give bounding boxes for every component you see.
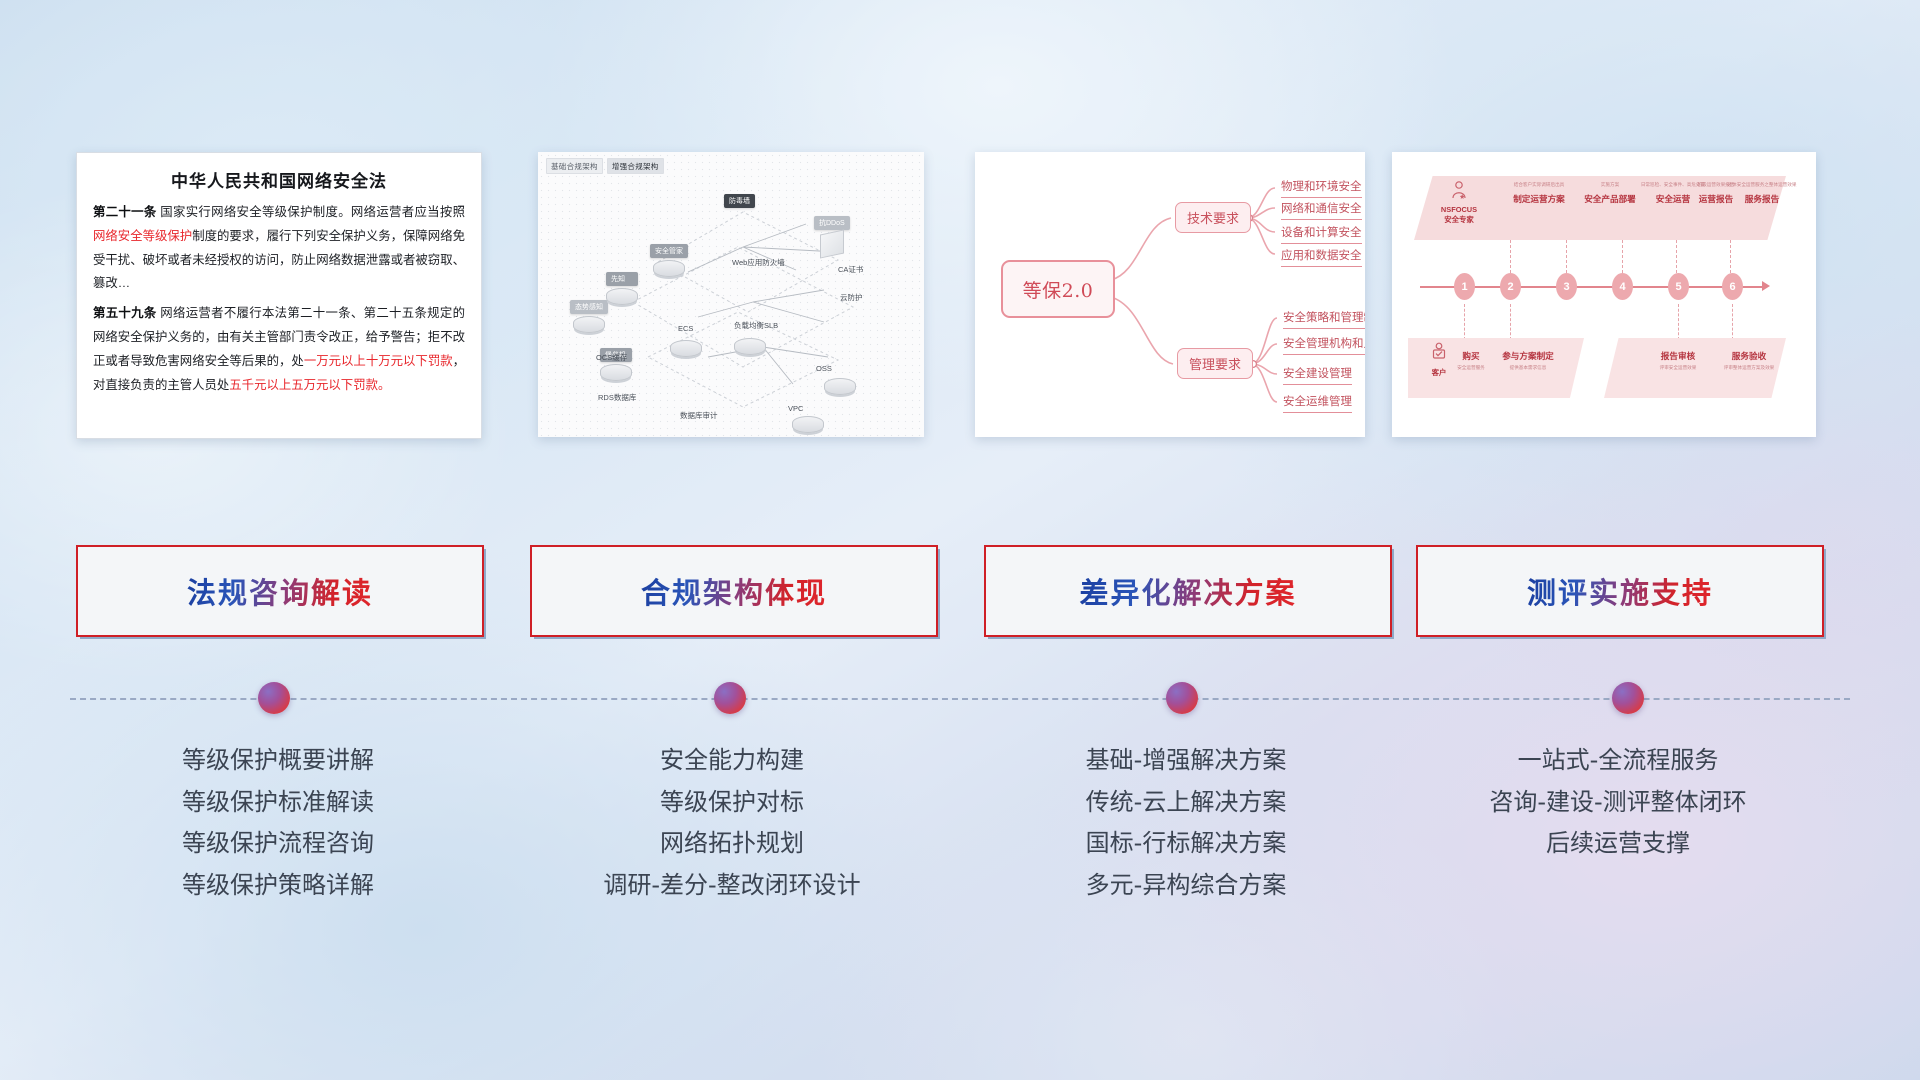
node-label: 先知: [606, 272, 638, 286]
node-slb-label: 负载均衡SLB: [734, 320, 778, 331]
node-disc-icon: [653, 260, 685, 277]
list-item: 等级保护策略详解: [76, 865, 480, 907]
law-article-21: 第二十一条 国家实行网络安全等级保护制度。网络运营者应当按照网络安全等级保护制度…: [93, 201, 465, 296]
node-antivirus-wall: 防毒墙: [724, 194, 755, 208]
roadmap-bottom-step-2: 参与方案制定 提供基本需求信息: [1490, 350, 1566, 371]
roadmap-marker-2: 2: [1500, 273, 1521, 300]
roadmap-marker-4: 4: [1612, 273, 1633, 300]
tab-basic-compliance[interactable]: 基础合规架构: [546, 158, 603, 174]
step-main: 报告审核: [1640, 350, 1716, 362]
list-item: 安全能力构建: [530, 740, 934, 782]
node-situational-awareness: 态势感知: [570, 300, 608, 333]
node-cloud-shield-label: 云防护: [840, 292, 863, 303]
roadmap-tick: [1732, 304, 1733, 340]
node-label: 安全管家: [650, 244, 688, 258]
pillar-title-4: 测评实施支持: [1527, 570, 1713, 612]
step-sub: 评审整体运营方案及效果: [1710, 365, 1788, 371]
pillar-items-1: 等级保护概要讲解 等级保护标准解读 等级保护流程咨询 等级保护策略详解: [76, 740, 480, 906]
timeline-node-4[interactable]: [1612, 682, 1644, 714]
expert-star-icon: [1449, 180, 1469, 200]
node-disc-icon: [600, 364, 632, 381]
article-21-text-a: 国家实行网络安全等级保护制度。网络运营者应当按照: [157, 205, 465, 219]
mindmap-leaf-org-personnel: 安全管理机构和人员: [1283, 335, 1365, 355]
pillar-title-box-3[interactable]: 差异化解决方案: [984, 545, 1392, 637]
node-oss-shape: [824, 376, 856, 395]
roadmap-arrow-icon: [1762, 281, 1770, 291]
timeline-node-3[interactable]: [1166, 682, 1198, 714]
node-disc-icon: [824, 378, 856, 395]
card-roadmap: NSFOCUS 安全专家 结合客户实际调研后出具 制定运营方案 实施方案 安全产…: [1392, 152, 1816, 437]
card-law-document: 中华人民共和国网络安全法 第二十一条 国家实行网络安全等级保护制度。网络运营者应…: [76, 152, 482, 439]
pillar-items-3: 基础-增强解决方案 传统-云上解决方案 国标-行标解决方案 多元-异构综合方案: [984, 740, 1388, 906]
mindmap-leaf-app-data: 应用和数据安全: [1281, 247, 1362, 267]
roadmap-top-step-5: 总体安全运营服务之整体运营效果 服务报告: [1704, 182, 1816, 205]
pillar-title-box-1[interactable]: 法规咨询解读: [76, 545, 484, 637]
list-item: 调研-差分-整改闭环设计: [530, 865, 934, 907]
customer-check-icon: [1430, 342, 1448, 360]
mindmap-leaf-ops-mgmt: 安全运维管理: [1283, 393, 1352, 413]
article-21-label: 第二十一条: [93, 205, 157, 219]
pillar-title-2: 合规架构体现: [641, 570, 827, 612]
node-disc-icon: [792, 416, 824, 433]
step-sub: 评审安全运营效果: [1640, 365, 1716, 371]
step-sub: 总体安全运营服务之整体运营效果: [1704, 182, 1816, 188]
list-item: 多元-异构综合方案: [984, 865, 1388, 907]
expert-brand: NSFOCUS: [1428, 205, 1490, 215]
list-item: 等级保护概要讲解: [76, 740, 480, 782]
node-waf-label: Web应用防火墙: [732, 257, 785, 268]
roadmap-tick: [1678, 304, 1679, 340]
node-ca-label: CA证书: [838, 264, 863, 275]
pillar-title-box-4[interactable]: 测评实施支持: [1416, 545, 1824, 637]
node-label: 防毒墙: [724, 194, 755, 208]
list-item: 传统-云上解决方案: [984, 782, 1388, 824]
mindmap-leaf-network-comm: 网络和通信安全: [1281, 200, 1362, 220]
law-article-59: 第五十九条 网络运营者不履行本法第二十一条、第二十五条规定的网络安全保护义务的，…: [93, 302, 465, 397]
article-21-highlight: 网络安全等级保护: [93, 229, 192, 243]
roadmap-bottom-step-4: 服务验收 评审整体运营方案及效果: [1710, 350, 1788, 371]
node-label: 态势感知: [570, 300, 608, 314]
node-foreknowledge: 先知: [606, 272, 638, 305]
mindmap-root: 等保2.0: [1001, 260, 1115, 318]
roadmap-marker-1: 1: [1454, 273, 1475, 300]
roadmap-tick: [1510, 304, 1511, 340]
node-vpc-label: VPC: [788, 404, 803, 413]
node-slb-shape: [734, 336, 766, 355]
list-item: 等级保护对标: [530, 782, 934, 824]
list-item: 基础-增强解决方案: [984, 740, 1388, 782]
card-architecture-diagram: 基础合规架构 增强合规架构 态势感知 先知: [538, 152, 924, 437]
pillar-title-1: 法规咨询解读: [187, 570, 373, 612]
node-disc-icon: [606, 288, 638, 305]
roadmap-bottom-step-1: 购买 安全运营服务: [1450, 350, 1492, 371]
node-disc-icon: [573, 316, 605, 333]
list-item: 咨询-建设-测评整体闭环: [1416, 782, 1820, 824]
mindmap-leaf-construction-mgmt: 安全建设管理: [1283, 365, 1352, 385]
node-db-audit-label: 数据库审计: [680, 410, 718, 421]
step-sub: 提供基本需求信息: [1490, 365, 1566, 371]
node-security-steward: 安全管家: [650, 244, 688, 277]
mindmap-canvas: 等保2.0 技术要求 物理和环境安全 网络和通信安全 设备和计算安全 应用和数据…: [975, 152, 1365, 437]
step-sub: 安全运营服务: [1450, 365, 1492, 371]
article-59-label: 第五十九条: [93, 306, 157, 320]
node-label: 抗DDoS: [814, 216, 850, 230]
roadmap-expert-block: NSFOCUS 安全专家: [1428, 180, 1490, 225]
timeline-node-1[interactable]: [258, 682, 290, 714]
list-item: 等级保护流程咨询: [76, 823, 480, 865]
roadmap-bottom-step-3: 报告审核 评审安全运营效果: [1640, 350, 1716, 371]
roadmap-tick: [1464, 304, 1465, 340]
roadmap-marker-6: 6: [1722, 273, 1743, 300]
node-ocs-label: OCS缓存: [596, 352, 627, 363]
article-59-highlight-1: 一万元以上十万元以下罚款: [304, 354, 453, 368]
article-59-highlight-2: 五千元以上五万元以下罚款。: [229, 378, 390, 392]
pillar-title-3: 差异化解决方案: [1079, 570, 1296, 612]
roadmap-marker-3: 3: [1556, 273, 1577, 300]
card-mindmap: 等保2.0 技术要求 物理和环境安全 网络和通信安全 设备和计算安全 应用和数据…: [975, 152, 1365, 437]
node-rds-label: RDS数据库: [598, 392, 636, 403]
tab-enhanced-compliance[interactable]: 增强合规架构: [607, 158, 664, 174]
list-item: 一站式-全流程服务: [1416, 740, 1820, 782]
node-anti-ddos: 抗DDoS: [814, 216, 850, 256]
roadmap-marker-5: 5: [1668, 273, 1689, 300]
expert-role: 安全专家: [1428, 215, 1490, 225]
mindmap-leaf-device-compute: 设备和计算安全: [1281, 224, 1362, 244]
architecture-canvas: 基础合规架构 增强合规架构 态势感知 先知: [538, 152, 924, 437]
list-item: 等级保护标准解读: [76, 782, 480, 824]
roadmap-canvas: NSFOCUS 安全专家 结合客户实际调研后出具 制定运营方案 实施方案 安全产…: [1392, 152, 1816, 437]
list-item: 国标-行标解决方案: [984, 823, 1388, 865]
architecture-tabbar: 基础合规架构 增强合规架构: [546, 158, 664, 174]
step-main: 服务报告: [1704, 193, 1816, 205]
law-title: 中华人民共和国网络安全法: [93, 167, 465, 192]
list-item: 网络拓扑规划: [530, 823, 934, 865]
mindmap-leaf-physical-env: 物理和环境安全: [1281, 178, 1362, 198]
node-vpc-shape: [792, 414, 824, 433]
pillar-title-box-2[interactable]: 合规架构体现: [530, 545, 938, 637]
list-item: 后续运营支撑: [1416, 823, 1820, 865]
pillar-items-4: 一站式-全流程服务 咨询-建设-测评整体闭环 后续运营支撑: [1416, 740, 1820, 865]
step-main: 购买: [1450, 350, 1492, 362]
node-cube-icon: [820, 229, 844, 258]
pillar-items-2: 安全能力构建 等级保护对标 网络拓扑规划 调研-差分-整改闭环设计: [530, 740, 934, 906]
mindmap-branch-management: 管理要求: [1177, 348, 1253, 379]
node-ecs-label: ECS: [678, 324, 693, 333]
timeline-axis: [70, 698, 1850, 700]
step-main: 参与方案制定: [1490, 350, 1566, 362]
mindmap-leaf-policy-system: 安全策略和管理制度: [1283, 309, 1365, 329]
node-ecs-shape: [670, 338, 702, 357]
step-main: 服务验收: [1710, 350, 1788, 362]
node-oss-label: OSS: [816, 364, 832, 373]
node-disc-icon: [670, 340, 702, 357]
mindmap-branch-technical: 技术要求: [1175, 202, 1251, 233]
timeline-node-2[interactable]: [714, 682, 746, 714]
node-disc-icon: [734, 338, 766, 355]
law-body: 中华人民共和国网络安全法 第二十一条 国家实行网络安全等级保护制度。网络运营者应…: [77, 153, 481, 438]
